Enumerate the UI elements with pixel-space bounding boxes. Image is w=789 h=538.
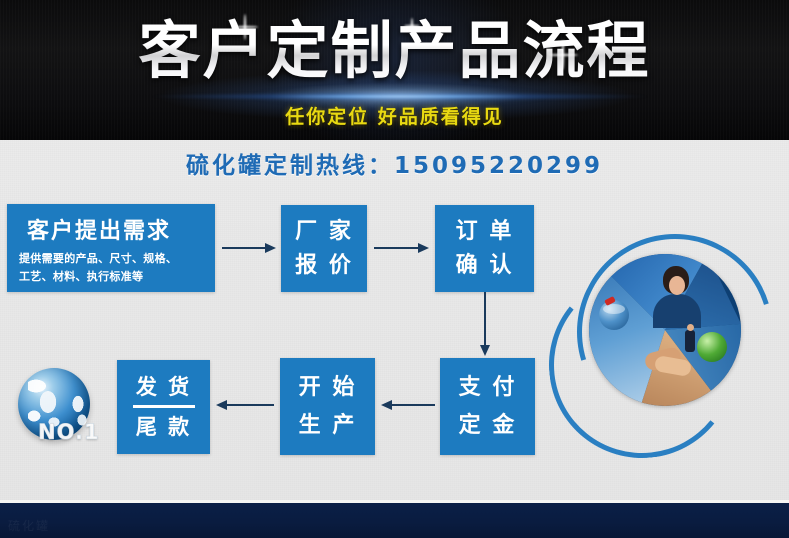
flow-step-quote-line2: 报 价 — [295, 249, 353, 283]
bottom-bar: 硫化罐 — [0, 503, 789, 538]
operator-face — [669, 276, 685, 295]
arrow-head — [480, 345, 490, 356]
flow-step-request-subtext: 提供需要的产品、尺寸、规格、 工艺、材料、执行标准等 — [19, 250, 177, 286]
flow-step-confirm-line1: 订 单 — [456, 215, 514, 249]
flow-step-deposit-line1: 支 付 — [459, 369, 517, 407]
arrow-head — [418, 243, 429, 253]
flow-step-request[interactable]: 客户提出需求 提供需要的产品、尺寸、规格、 工艺、材料、执行标准等 — [7, 204, 215, 292]
business-collage-graphic — [545, 232, 785, 460]
arrow-left-icon — [381, 400, 435, 410]
flow-step-ship-line2: 尾 款 — [136, 411, 191, 443]
flow-step-quote-line1: 厂 家 — [295, 215, 353, 249]
flow-step-request-subtext-line2: 工艺、材料、执行标准等 — [19, 268, 177, 286]
light-flare-icon — [150, 92, 650, 101]
businessman-figure — [685, 330, 695, 352]
flow-step-produce-line1: 开 始 — [299, 369, 357, 407]
flow-step-produce[interactable]: 开 始 生 产 — [280, 358, 375, 455]
arrow-shaft — [225, 404, 274, 406]
arrow-right-icon — [222, 243, 276, 253]
promo-banner-page: 客户定制产品流程 任你定位 好品质看得见 硫化罐定制热线：15095220299… — [0, 0, 789, 538]
arrow-shaft — [390, 404, 435, 406]
flow-step-deposit-line2: 定 金 — [459, 407, 517, 445]
arrow-left-icon — [216, 400, 274, 410]
page-title: 客户定制产品流程 — [0, 13, 789, 89]
page-subtitle: 任你定位 好品质看得见 — [0, 102, 789, 129]
arrow-head — [265, 243, 276, 253]
flow-step-confirm[interactable]: 订 单 确 认 — [435, 205, 534, 292]
arrow-shaft — [484, 292, 486, 347]
flow-step-ship[interactable]: 发 货 尾 款 — [117, 360, 210, 454]
arrow-down-icon — [480, 292, 490, 356]
operator-body — [653, 294, 701, 328]
arrow-head — [216, 400, 227, 410]
no1-label: NO.1 — [38, 420, 100, 444]
flow-step-produce-line2: 生 产 — [299, 407, 357, 445]
businessman-head — [687, 324, 694, 331]
flow-step-quote[interactable]: 厂 家 报 价 — [281, 205, 367, 292]
arrow-right-icon — [374, 243, 429, 253]
globe-no1-badge: NO.1 — [10, 366, 96, 452]
flow-step-request-title: 客户提出需求 — [27, 213, 171, 245]
arrow-shaft — [222, 247, 267, 249]
flow-step-request-subtext-line1: 提供需要的产品、尺寸、规格、 — [19, 250, 177, 268]
arrow-head — [381, 400, 392, 410]
flow-step-ship-line1: 发 货 — [136, 371, 191, 403]
flow-step-confirm-line2: 确 认 — [456, 249, 514, 283]
banner-header: 客户定制产品流程 任你定位 好品质看得见 — [0, 0, 789, 140]
bottom-watermark: 硫化罐 — [8, 517, 50, 534]
hotline-text: 硫化罐定制热线：15095220299 — [0, 143, 789, 183]
collage-circle — [589, 254, 741, 406]
green-globe-icon — [697, 332, 727, 362]
flow-step-deposit[interactable]: 支 付 定 金 — [440, 358, 535, 455]
flow-step-ship-divider — [133, 405, 195, 408]
arrow-shaft — [374, 247, 420, 249]
